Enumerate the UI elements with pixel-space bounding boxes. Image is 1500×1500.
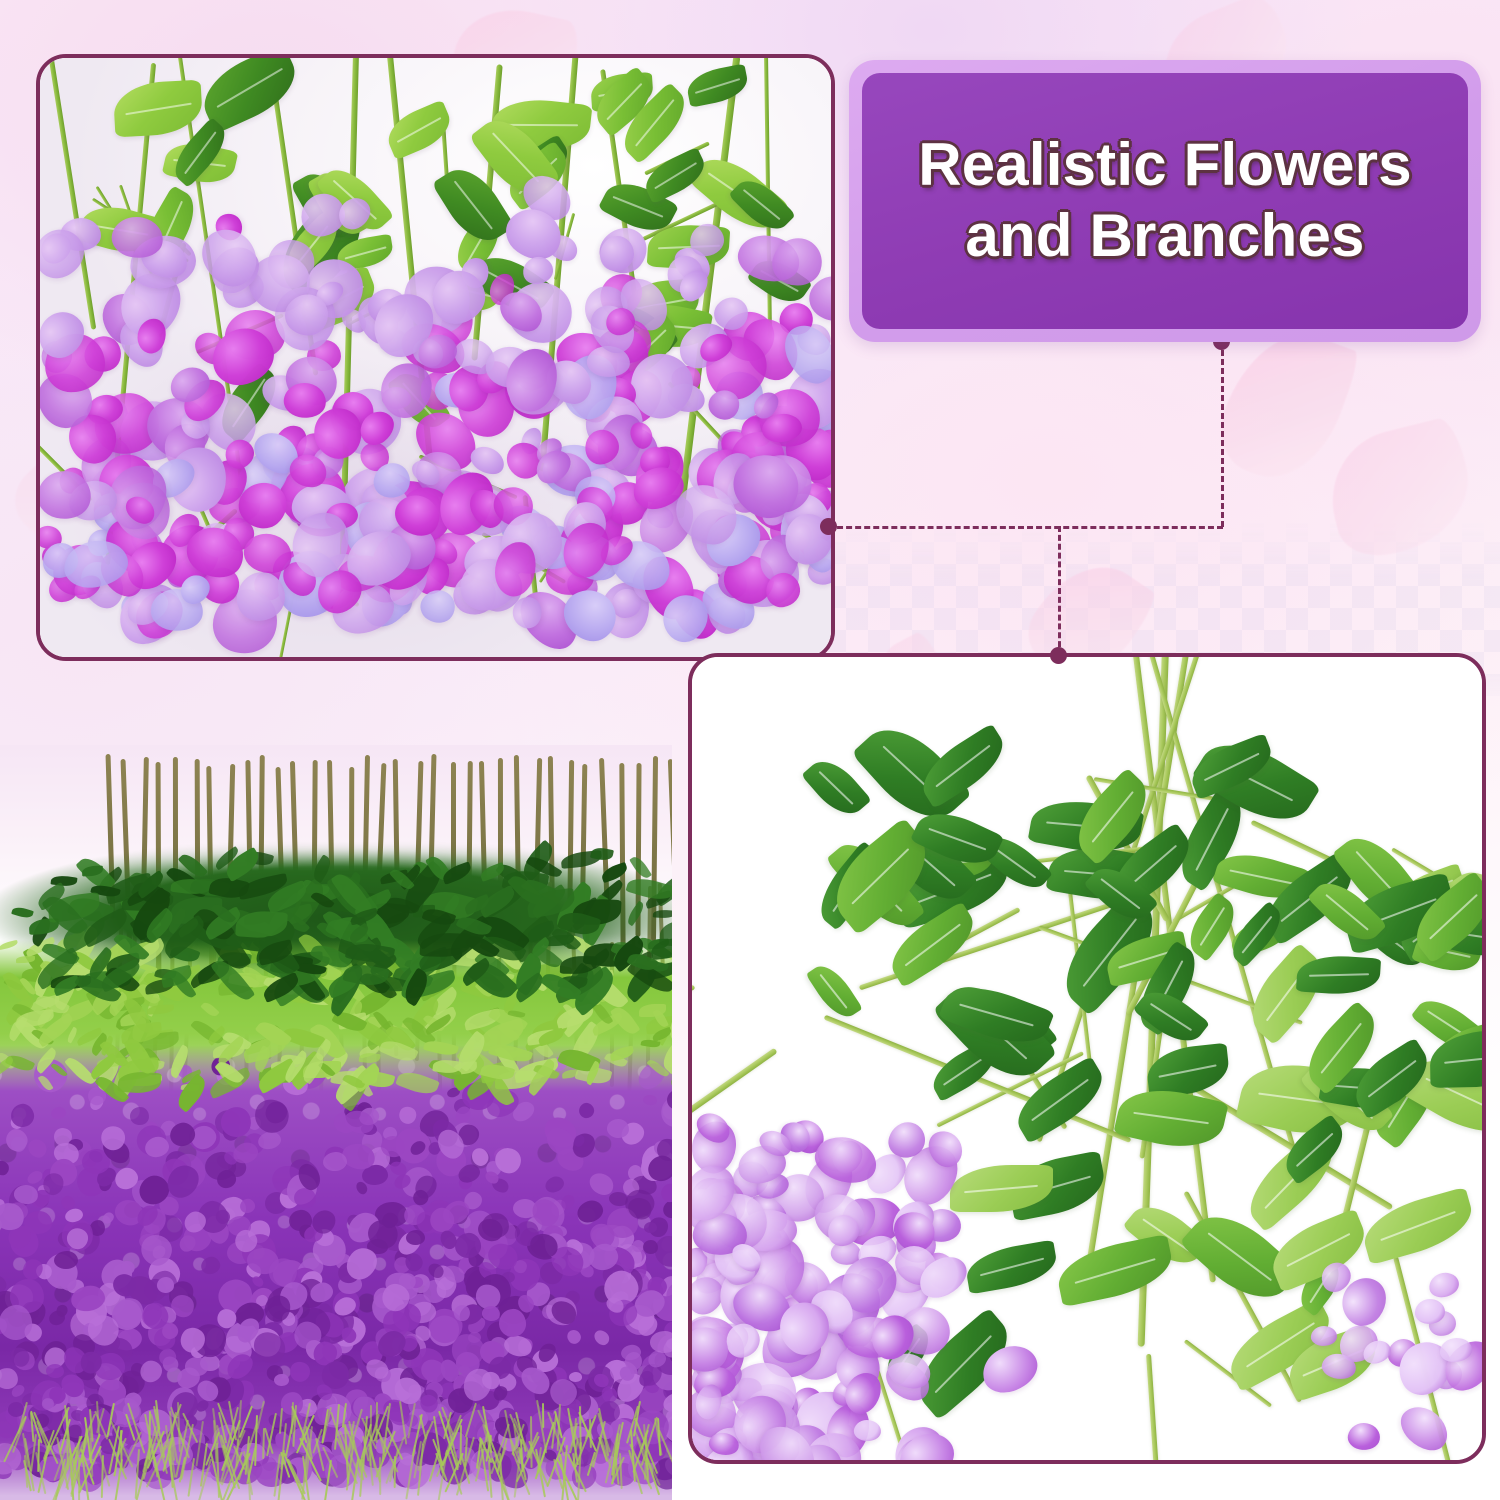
callout-badge-inner: Realistic Flowers and Branches [862,73,1468,329]
garland-bundle-photo [0,745,672,1500]
connector-dot-left-panel [820,518,837,535]
connector-vertical-badge [1221,341,1224,527]
connector-dot-bottom-panel [1050,647,1067,664]
connector-horizontal [828,526,1223,529]
callout-title-line-1: Realistic Flowers [918,130,1412,201]
leaf [653,909,672,918]
callout-title-line-2: and Branches [965,201,1364,272]
branch-detail-photo [688,653,1486,1464]
flower [643,1222,657,1233]
flower [569,1372,582,1382]
flower [129,1106,149,1126]
close-up-flowers-photo [36,54,835,661]
stem-tip [148,1411,151,1460]
stem-tip [379,1457,381,1495]
product-infographic: Realistic Flowers and Branches [0,0,1500,1500]
connector-vertical-branch [1058,526,1061,656]
flower [54,1250,78,1268]
callout-badge: Realistic Flowers and Branches [849,60,1481,342]
